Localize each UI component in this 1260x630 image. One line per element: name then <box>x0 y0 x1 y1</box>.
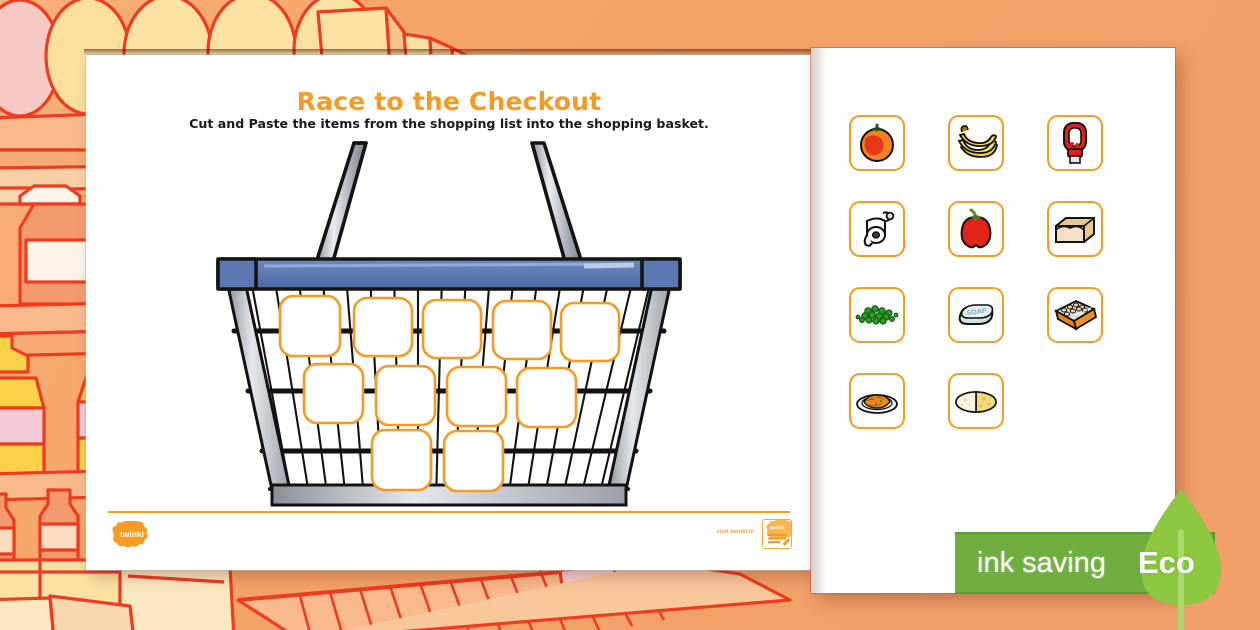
cheese-plate-icon <box>953 386 999 416</box>
beans-plate-icon <box>854 386 900 416</box>
item-card-peas[interactable] <box>849 287 905 343</box>
footer-divider <box>108 511 790 513</box>
soap-bar-icon: SOAP <box>954 300 998 330</box>
svg-text:twinkl: twinkl <box>770 525 784 531</box>
item-card-bananas[interactable] <box>948 115 1004 171</box>
item-card-red-pepper[interactable] <box>948 201 1004 257</box>
visit-twinkl-text[interactable]: visit twinkl.ie <box>717 529 754 535</box>
ink-saving-label: ink saving <box>955 547 1106 580</box>
screenshot-stage: Race to the Checkout Cut and Paste the i… <box>0 0 1260 630</box>
bananas-icon <box>953 123 999 163</box>
item-card-tomato[interactable] <box>849 115 905 171</box>
ink-saving-eco-badge: ink saving Eco <box>955 532 1260 594</box>
svg-text:twinkl: twinkl <box>120 529 144 539</box>
page-title: Race to the Checkout <box>86 87 812 116</box>
item-card-bread[interactable] <box>1047 201 1103 257</box>
egg-box-icon <box>1052 297 1098 333</box>
tomato-icon <box>855 121 899 165</box>
item-card-beans[interactable] <box>849 373 905 429</box>
item-card-cheese[interactable] <box>948 373 1004 429</box>
item-card-eggs[interactable] <box>1047 287 1103 343</box>
eco-label: Eco <box>1138 545 1195 581</box>
item-list-page-right: SOAP <box>811 48 1175 593</box>
toilet-roll-icon <box>855 207 899 251</box>
item-card-toilet-roll[interactable] <box>849 201 905 257</box>
page-subtitle: Cut and Paste the items from the shoppin… <box>86 116 812 131</box>
ketchup-icon <box>1058 120 1092 166</box>
twinkl-logo: twinkl <box>108 521 156 549</box>
twinkl-badge-icon: twinkl <box>762 519 792 549</box>
peas-icon <box>854 301 900 329</box>
red-pepper-icon <box>956 207 996 251</box>
shopping-basket <box>204 133 694 523</box>
worksheet-page-left: Race to the Checkout Cut and Paste the i… <box>86 55 812 570</box>
item-card-grid: SOAP <box>849 115 1141 429</box>
item-card-ketchup[interactable] <box>1047 115 1103 171</box>
bread-loaf-icon <box>1052 212 1098 246</box>
item-card-soap[interactable]: SOAP <box>948 287 1004 343</box>
